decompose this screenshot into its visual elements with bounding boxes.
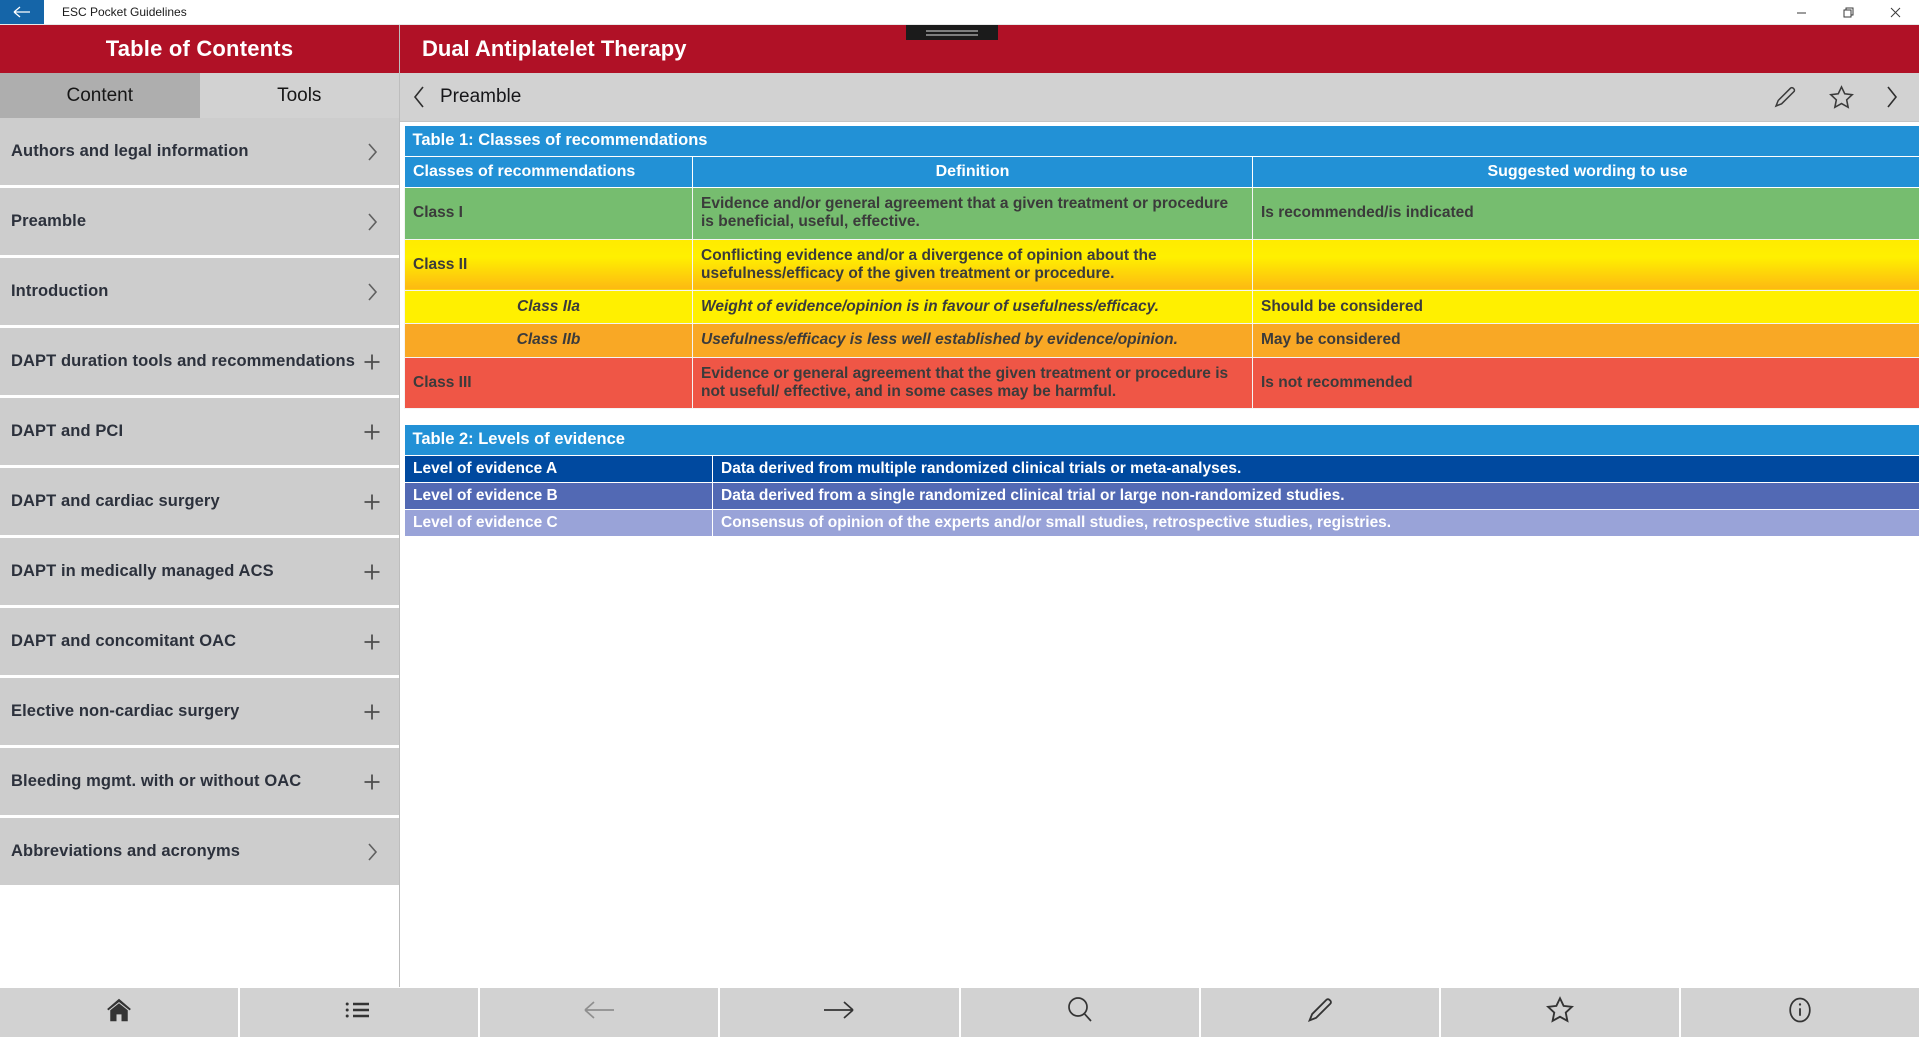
sidebar-item[interactable]: Introduction bbox=[0, 258, 399, 325]
table1-header-class: Classes of recommendations bbox=[405, 157, 693, 188]
table1-class: Class IIa bbox=[405, 291, 693, 324]
table1-class: Class III bbox=[405, 357, 693, 409]
table-row: Level of evidence CConsensus of opinion … bbox=[405, 510, 1919, 537]
table1-header-row: Classes of recommendations Definition Su… bbox=[405, 157, 1919, 188]
table2-level: Level of evidence A bbox=[405, 456, 713, 483]
window-controls bbox=[1778, 0, 1919, 24]
sidebar-title: Table of Contents bbox=[106, 36, 294, 62]
sidebar-item-label: DAPT and PCI bbox=[11, 422, 359, 441]
chevron-left-icon[interactable] bbox=[412, 85, 426, 109]
table-classes-of-recommendations: Table 1: Classes of recommendations Clas… bbox=[404, 126, 1919, 409]
breadcrumb-actions bbox=[1772, 84, 1899, 111]
tab-content[interactable]: Content bbox=[0, 73, 200, 118]
chevron-right-icon[interactable] bbox=[1885, 85, 1899, 109]
main-panel: Dual Antiplatelet Therapy Preamble bbox=[400, 25, 1919, 987]
table1-wording: Should be considered bbox=[1253, 291, 1919, 324]
sidebar-header: Table of Contents bbox=[0, 25, 399, 73]
table1-definition: Evidence and/or general agreement that a… bbox=[693, 188, 1253, 240]
breadcrumb-left: Preamble bbox=[412, 85, 521, 109]
chevron-right-icon[interactable] bbox=[359, 842, 385, 862]
home-button[interactable] bbox=[0, 988, 238, 1037]
chevron-right-icon[interactable] bbox=[359, 282, 385, 302]
star-icon[interactable] bbox=[1828, 84, 1855, 111]
back-arrow-icon[interactable] bbox=[0, 0, 44, 24]
sidebar-item-label: Introduction bbox=[11, 282, 359, 301]
table1-class: Class II bbox=[405, 239, 693, 291]
app-title: ESC Pocket Guidelines bbox=[44, 0, 187, 24]
sidebar-filler bbox=[0, 888, 399, 987]
sidebar-item-label: Abbreviations and acronyms bbox=[11, 842, 359, 861]
sidebar-tabs: Content Tools bbox=[0, 73, 399, 118]
sidebar-item-label: DAPT and cardiac surgery bbox=[11, 492, 359, 511]
table-row: Level of evidence BData derived from a s… bbox=[405, 483, 1919, 510]
drag-handle[interactable] bbox=[906, 25, 998, 40]
info-icon bbox=[1785, 995, 1815, 1030]
list-button[interactable] bbox=[240, 988, 478, 1037]
table-row: Class IEvidence and/or general agreement… bbox=[405, 188, 1919, 240]
plus-icon[interactable] bbox=[359, 493, 385, 511]
table2-description: Consensus of opinion of the experts and/… bbox=[713, 510, 1919, 537]
content-area: Table 1: Classes of recommendations Clas… bbox=[400, 122, 1919, 987]
sidebar-item[interactable]: DAPT and concomitant OAC bbox=[0, 608, 399, 675]
close-icon[interactable] bbox=[1872, 0, 1919, 24]
table1-caption-row: Table 1: Classes of recommendations bbox=[405, 126, 1919, 157]
table-of-contents-list[interactable]: Authors and legal informationPreambleInt… bbox=[0, 118, 399, 987]
list-icon bbox=[344, 997, 374, 1028]
sidebar-item-label: Preamble bbox=[11, 212, 359, 231]
app-shell: Table of Contents Content Tools Authors … bbox=[0, 25, 1919, 1037]
pencil-icon bbox=[1305, 995, 1335, 1030]
table1-class: Class I bbox=[405, 188, 693, 240]
star-button[interactable] bbox=[1441, 988, 1679, 1037]
sidebar-item[interactable]: DAPT in medically managed ACS bbox=[0, 538, 399, 605]
page-title: Dual Antiplatelet Therapy bbox=[422, 36, 686, 62]
table2-level: Level of evidence C bbox=[405, 510, 713, 537]
search-icon bbox=[1065, 995, 1095, 1030]
table1-header-definition: Definition bbox=[693, 157, 1253, 188]
plus-icon[interactable] bbox=[359, 633, 385, 651]
table2-description: Data derived from multiple randomized cl… bbox=[713, 456, 1919, 483]
table2-caption-row: Table 2: Levels of evidence bbox=[405, 425, 1919, 456]
plus-icon[interactable] bbox=[359, 773, 385, 791]
table2-level: Level of evidence B bbox=[405, 483, 713, 510]
table1-wording: Is recommended/is indicated bbox=[1253, 188, 1919, 240]
table1-class: Class IIb bbox=[405, 324, 693, 357]
sidebar-item-label: Authors and legal information bbox=[11, 142, 359, 161]
star-icon bbox=[1545, 995, 1575, 1030]
table-row: Class IIIEvidence or general agreement t… bbox=[405, 357, 1919, 409]
pencil-icon[interactable] bbox=[1772, 84, 1798, 110]
table1-wording: May be considered bbox=[1253, 324, 1919, 357]
handle-bars-icon bbox=[926, 28, 978, 38]
sidebar-item[interactable]: Elective non-cardiac surgery bbox=[0, 678, 399, 745]
arrow-left-icon bbox=[582, 997, 616, 1028]
table-row: Level of evidence AData derived from mul… bbox=[405, 456, 1919, 483]
chevron-right-icon[interactable] bbox=[359, 212, 385, 232]
table1-definition: Evidence or general agreement that the g… bbox=[693, 357, 1253, 409]
table2-caption: Table 2: Levels of evidence bbox=[405, 425, 1919, 456]
minimize-icon[interactable] bbox=[1778, 0, 1825, 24]
table1-definition: Conflicting evidence and/or a divergence… bbox=[693, 239, 1253, 291]
plus-icon[interactable] bbox=[359, 563, 385, 581]
search-button[interactable] bbox=[961, 988, 1199, 1037]
home-icon bbox=[104, 995, 134, 1030]
sidebar-item[interactable]: DAPT and cardiac surgery bbox=[0, 468, 399, 535]
table1-caption: Table 1: Classes of recommendations bbox=[405, 126, 1919, 157]
sidebar-item[interactable]: Bleeding mgmt. with or without OAC bbox=[0, 748, 399, 815]
sidebar-item-label: DAPT and concomitant OAC bbox=[11, 632, 359, 651]
sidebar-item-label: Elective non-cardiac surgery bbox=[11, 702, 359, 721]
sidebar-item[interactable]: Authors and legal information bbox=[0, 118, 399, 185]
chevron-right-icon[interactable] bbox=[359, 142, 385, 162]
restore-icon[interactable] bbox=[1825, 0, 1872, 24]
table-row: Class IIbUsefulness/efficacy is less wel… bbox=[405, 324, 1919, 357]
app-body: Table of Contents Content Tools Authors … bbox=[0, 25, 1919, 987]
arrow-right-icon bbox=[822, 997, 856, 1028]
title-bar-spacer bbox=[187, 0, 1778, 24]
plus-icon[interactable] bbox=[359, 703, 385, 721]
table1-header-wording: Suggested wording to use bbox=[1253, 157, 1919, 188]
plus-icon[interactable] bbox=[359, 353, 385, 371]
breadcrumb-label: Preamble bbox=[440, 86, 521, 108]
info-button[interactable] bbox=[1681, 988, 1919, 1037]
table-row: Class IIConflicting evidence and/or a di… bbox=[405, 239, 1919, 291]
pencil-button[interactable] bbox=[1201, 988, 1439, 1037]
sidebar-item-label: Bleeding mgmt. with or without OAC bbox=[11, 772, 359, 791]
sidebar-item[interactable]: Preamble bbox=[0, 188, 399, 255]
sidebar: Table of Contents Content Tools Authors … bbox=[0, 25, 400, 987]
arrow-left-button[interactable] bbox=[480, 988, 718, 1037]
tab-tools[interactable]: Tools bbox=[200, 73, 400, 118]
table1-wording: Is not recommended bbox=[1253, 357, 1919, 409]
sidebar-item[interactable]: DAPT duration tools and recommendations bbox=[0, 328, 399, 395]
plus-icon[interactable] bbox=[359, 423, 385, 441]
table1-definition: Usefulness/efficacy is less well establi… bbox=[693, 324, 1253, 357]
window-title-bar: ESC Pocket Guidelines bbox=[0, 0, 1919, 25]
sidebar-item-label: DAPT duration tools and recommendations bbox=[11, 352, 359, 371]
arrow-right-button[interactable] bbox=[720, 988, 958, 1037]
sidebar-item-label: DAPT in medically managed ACS bbox=[11, 562, 359, 581]
table1-definition: Weight of evidence/opinion is in favour … bbox=[693, 291, 1253, 324]
main-header: Dual Antiplatelet Therapy bbox=[400, 25, 1919, 73]
table-row: Class IIaWeight of evidence/opinion is i… bbox=[405, 291, 1919, 324]
sidebar-item[interactable]: Abbreviations and acronyms bbox=[0, 818, 399, 885]
table1-wording bbox=[1253, 239, 1919, 291]
table-spacer bbox=[404, 409, 1919, 425]
sidebar-item[interactable]: DAPT and PCI bbox=[0, 398, 399, 465]
table2-description: Data derived from a single randomized cl… bbox=[713, 483, 1919, 510]
bottom-toolbar bbox=[0, 987, 1919, 1037]
breadcrumb: Preamble bbox=[400, 73, 1919, 122]
table-levels-of-evidence: Table 2: Levels of evidence Level of evi… bbox=[404, 425, 1919, 537]
